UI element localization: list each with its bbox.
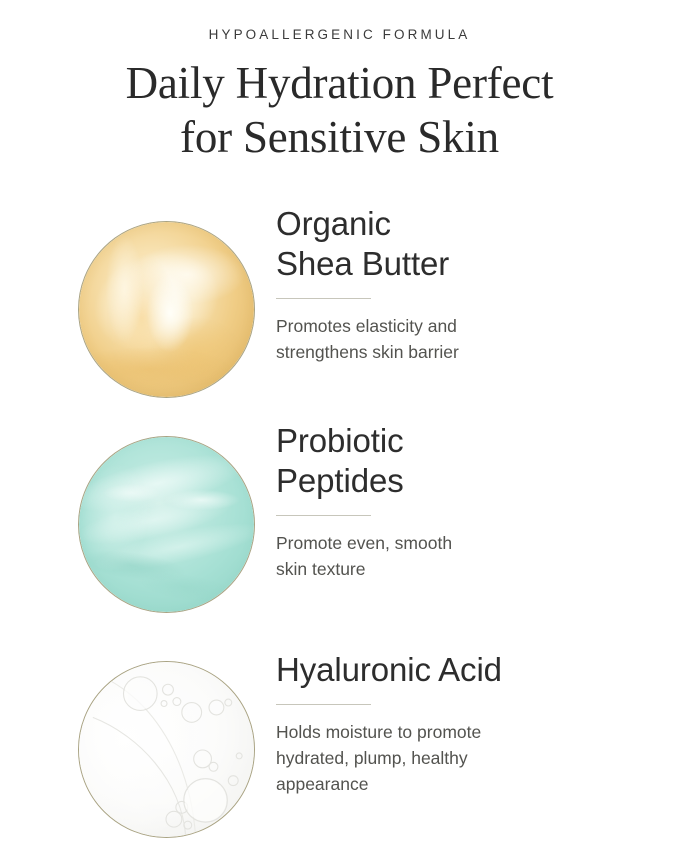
description-line-3: appearance <box>276 772 576 798</box>
swatch-container <box>78 200 255 418</box>
ingredient-title-line-2: Peptides <box>276 461 679 501</box>
description-line-2: skin texture <box>276 557 576 583</box>
ingredient-description: Holds moisture to promote hydrated, plum… <box>276 720 576 798</box>
divider-rule <box>276 704 371 705</box>
description-line-1: Promotes elasticity and <box>276 314 576 340</box>
ingredient-row-hyaluronic-acid: Hyaluronic Acid Holds moisture to promot… <box>0 640 679 845</box>
ingredient-title-line-1: Probiotic <box>276 421 679 461</box>
ingredient-description: Promotes elasticity and strengthens skin… <box>276 314 576 366</box>
description-line-1: Holds moisture to promote <box>276 720 576 746</box>
headline-line-1: Daily Hydration Perfect <box>0 56 679 111</box>
ingredient-row-shea-butter: Organic Shea Butter Promotes elasticity … <box>0 200 679 415</box>
ingredient-description: Promote even, smooth skin texture <box>276 531 576 583</box>
swatch-container <box>78 640 255 858</box>
ingredient-copy: Organic Shea Butter Promotes elasticity … <box>255 200 679 366</box>
ingredient-copy: Probiotic Peptides Promote even, smooth … <box>255 415 679 583</box>
page-title: Daily Hydration Perfect for Sensitive Sk… <box>0 56 679 166</box>
headline-line-2: for Sensitive Skin <box>0 110 679 165</box>
ingredient-title-line-1: Hyaluronic Acid <box>276 650 679 690</box>
header: HYPOALLERGENIC FORMULA Daily Hydration P… <box>0 0 679 165</box>
ingredient-row-probiotic-peptides: Probiotic Peptides Promote even, smooth … <box>0 415 679 640</box>
ingredient-list: Organic Shea Butter Promotes elasticity … <box>0 200 679 845</box>
divider-rule <box>276 298 371 299</box>
shea-butter-swatch <box>78 221 255 398</box>
description-line-2: hydrated, plump, healthy <box>276 746 576 772</box>
swatch-edge-shading <box>79 662 254 837</box>
description-line-1: Promote even, smooth <box>276 531 576 557</box>
probiotic-peptides-swatch <box>78 436 255 613</box>
ingredient-title-line-2: Shea Butter <box>276 244 679 284</box>
swatch-container <box>78 415 255 633</box>
ingredient-copy: Hyaluronic Acid Holds moisture to promot… <box>255 640 679 798</box>
hyaluronic-acid-swatch <box>78 661 255 838</box>
ingredient-title-line-1: Organic <box>276 204 679 244</box>
swatch-edge-shading <box>79 437 254 612</box>
ingredient-infographic: HYPOALLERGENIC FORMULA Daily Hydration P… <box>0 0 679 849</box>
ingredient-title: Organic Shea Butter <box>276 204 679 284</box>
ingredient-title: Probiotic Peptides <box>276 421 679 501</box>
ingredient-title: Hyaluronic Acid <box>276 650 679 690</box>
description-line-2: strengthens skin barrier <box>276 340 576 366</box>
eyebrow-label: HYPOALLERGENIC FORMULA <box>0 28 679 42</box>
divider-rule <box>276 515 371 516</box>
swatch-edge-shading <box>79 222 254 397</box>
